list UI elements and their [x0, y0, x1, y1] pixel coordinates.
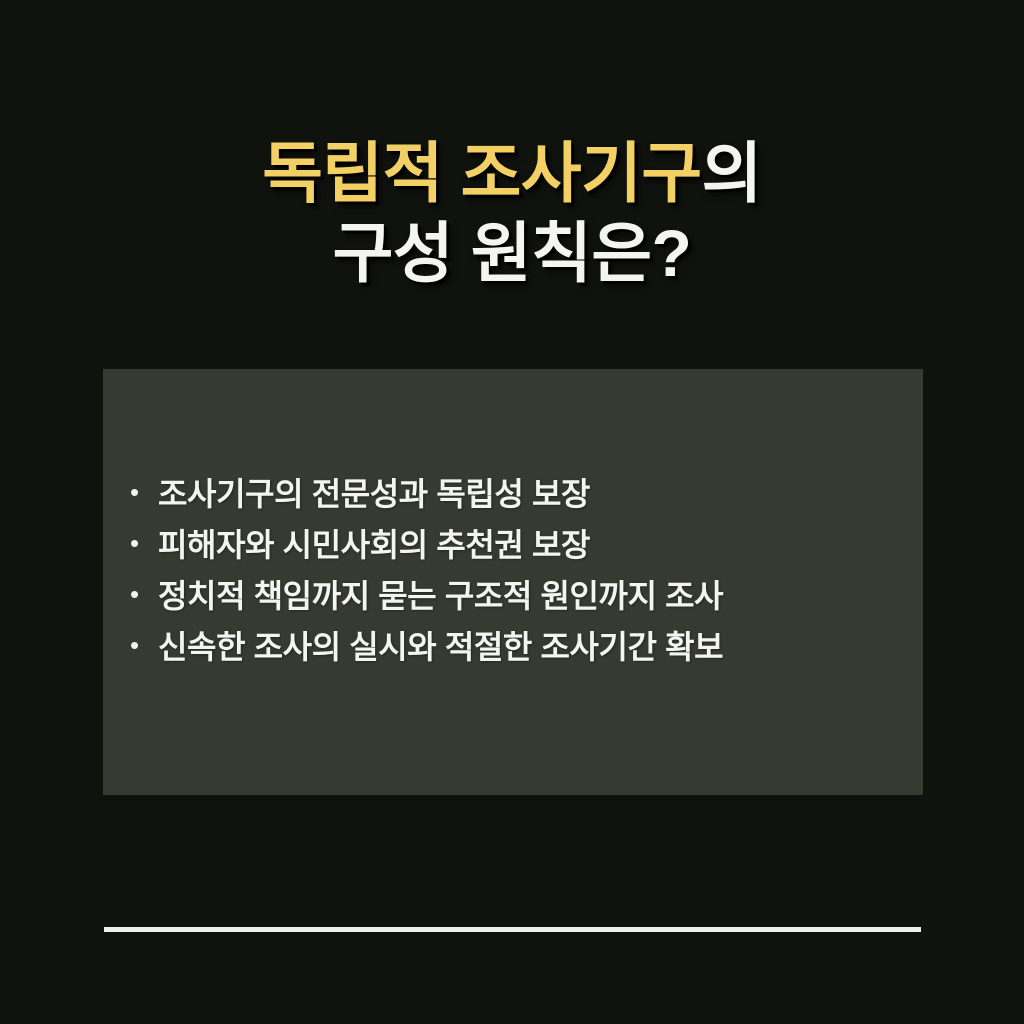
title-accent-text: 독립적 조사기구	[262, 136, 701, 210]
bullet-dot-icon: •	[130, 581, 158, 607]
list-item-label: 신속한 조사의 실시와 적절한 조사기간 확보	[158, 622, 723, 668]
list-item-label: 정치적 책임까지 묻는 구조적 원인까지 조사	[158, 571, 723, 617]
list-item-label: 조사기구의 전문성과 독립성 보장	[158, 469, 590, 515]
bottom-divider	[104, 927, 921, 932]
slide-canvas: 독립적 조사기구의 구성 원칙은? • 조사기구의 전문성과 독립성 보장 • …	[0, 0, 1024, 1024]
list-item: • 피해자와 시민사회의 추천권 보장	[130, 520, 905, 571]
list-item-label: 피해자와 시민사회의 추천권 보장	[158, 520, 590, 566]
list-item: • 신속한 조사의 실시와 적절한 조사기간 확보	[130, 622, 905, 673]
page-title: 독립적 조사기구의 구성 원칙은?	[0, 140, 1024, 286]
list-item: • 정치적 책임까지 묻는 구조적 원인까지 조사	[130, 571, 905, 622]
content-panel: • 조사기구의 전문성과 독립성 보장 • 피해자와 시민사회의 추천권 보장 …	[103, 369, 923, 795]
title-suffix-text: 의	[702, 136, 762, 210]
principles-list: • 조사기구의 전문성과 독립성 보장 • 피해자와 시민사회의 추천권 보장 …	[130, 469, 905, 673]
title-line-2: 구성 원칙은?	[0, 220, 1024, 286]
list-item: • 조사기구의 전문성과 독립성 보장	[130, 469, 905, 520]
bullet-dot-icon: •	[130, 530, 158, 556]
title-line-1: 독립적 조사기구의	[0, 140, 1024, 206]
bullet-dot-icon: •	[130, 632, 158, 658]
bullet-dot-icon: •	[130, 479, 158, 505]
